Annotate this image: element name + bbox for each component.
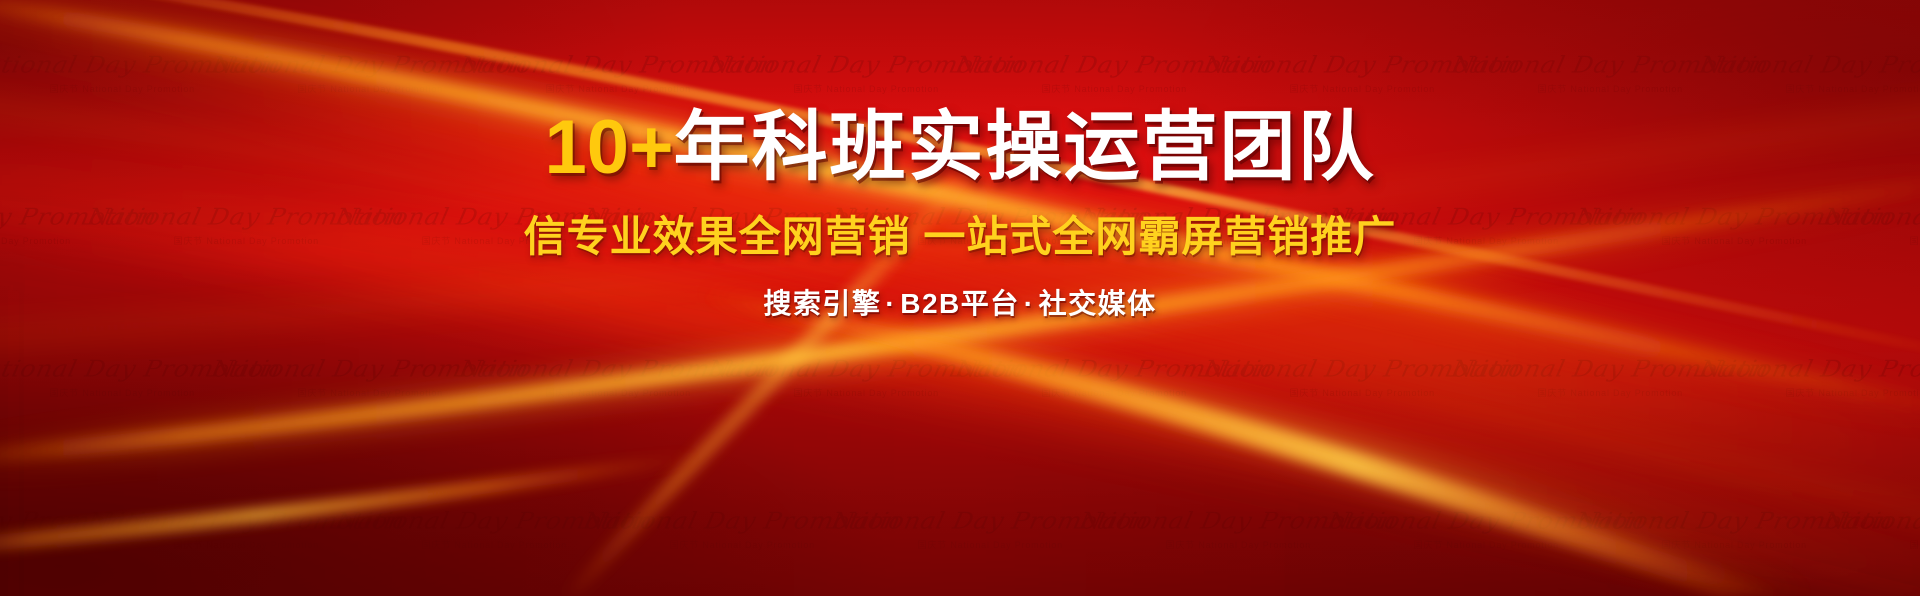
headline-number: 10+ (545, 105, 674, 190)
headline: 10+年科班实操运营团队 (545, 110, 1376, 186)
tagline-separator-1: · (881, 288, 900, 319)
tagline-item-search-engine: 搜索引擎 (763, 288, 881, 319)
tagline: 搜索引擎·B2B平台·社交媒体 (763, 290, 1156, 318)
headline-text: 年科班实操运营团队 (673, 105, 1375, 190)
promotional-banner: National Day Promotion国庆节 National Day P… (0, 0, 1920, 596)
tagline-item-b2b-platform: B2B平台 (900, 288, 1020, 319)
tagline-separator-2: · (1020, 288, 1039, 319)
tagline-item-social-media: 社交媒体 (1039, 288, 1157, 319)
banner-content: 10+年科班实操运营团队 信专业效果全网营销 一站式全网霸屏营销推广 搜索引擎·… (0, 0, 1920, 596)
subheadline: 信专业效果全网营销 一站式全网霸屏营销推广 (524, 216, 1397, 258)
